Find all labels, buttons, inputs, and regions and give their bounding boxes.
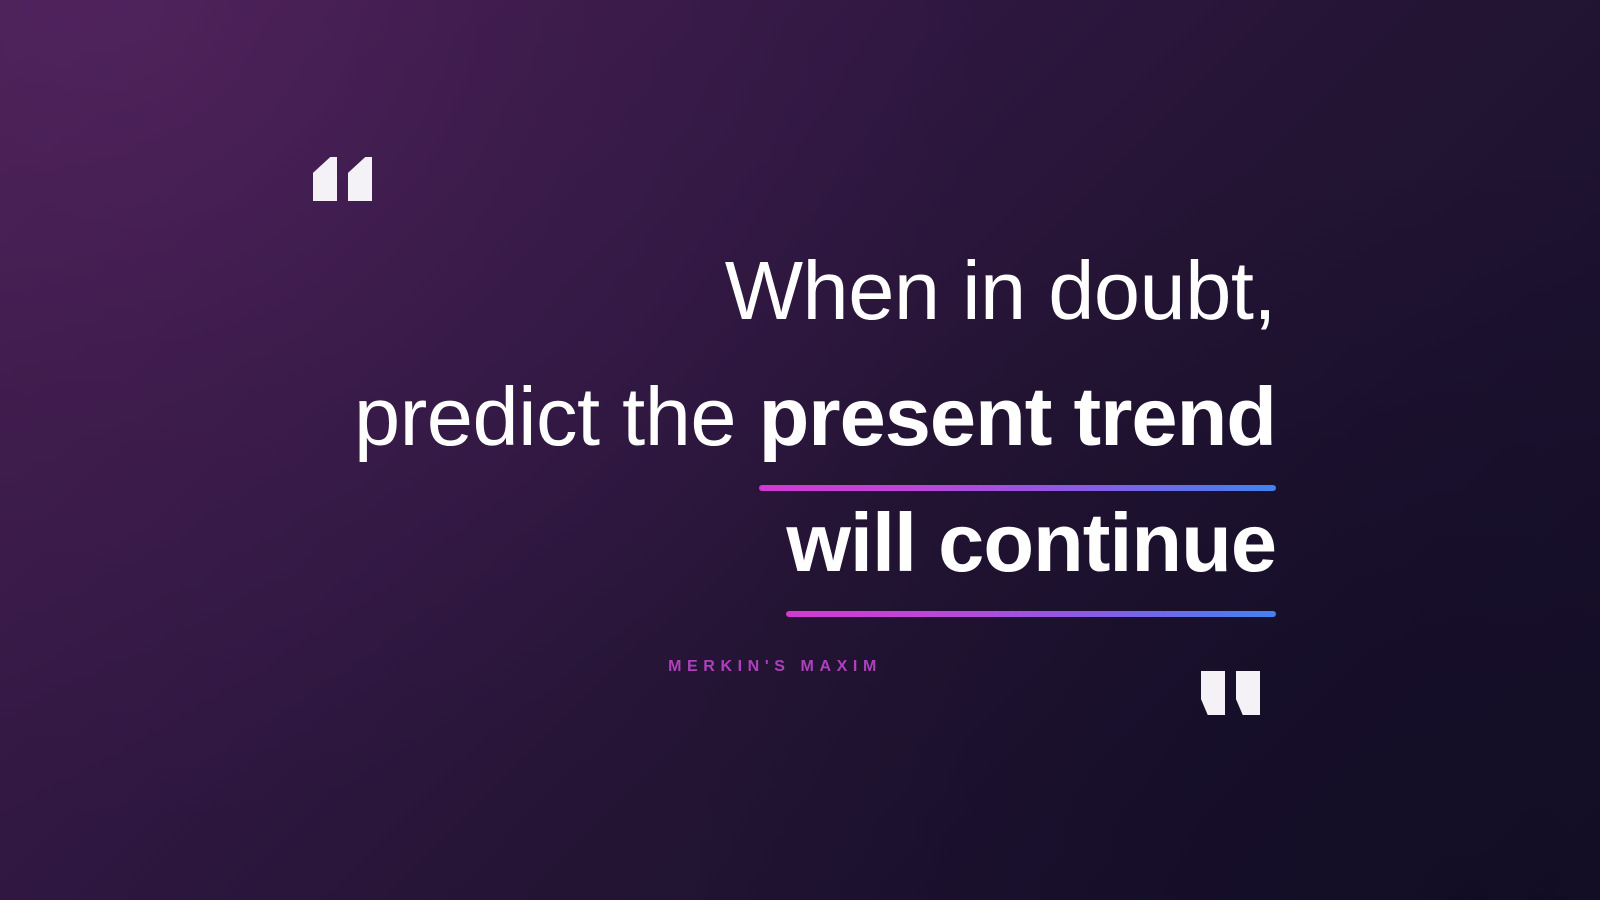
open-quote-bar-right	[348, 157, 372, 201]
attribution-label: MERKIN'S MAXIM	[0, 658, 1550, 676]
quote-slide: When in doubt, predict the present trend…	[0, 0, 1600, 900]
open-quote-bar-left	[313, 157, 337, 201]
quote-line-3: will continue	[0, 480, 1276, 606]
close-quote-mark-icon	[1201, 671, 1260, 715]
quote-line-3-emphasis: will continue	[786, 480, 1276, 606]
open-quote-mark-icon	[313, 157, 372, 201]
close-quote-bar-left	[1201, 671, 1225, 715]
quote-line-1-text: When in doubt,	[725, 244, 1276, 337]
quote-text-block: When in doubt, predict the present trend…	[0, 228, 1276, 606]
quote-line-2-emphasis: present trend	[759, 354, 1276, 480]
quote-line-2-plain: predict the	[354, 370, 759, 463]
quote-line-2: predict the present trend	[0, 354, 1276, 480]
quote-line-1: When in doubt,	[0, 228, 1276, 354]
close-quote-bar-right	[1236, 671, 1260, 715]
